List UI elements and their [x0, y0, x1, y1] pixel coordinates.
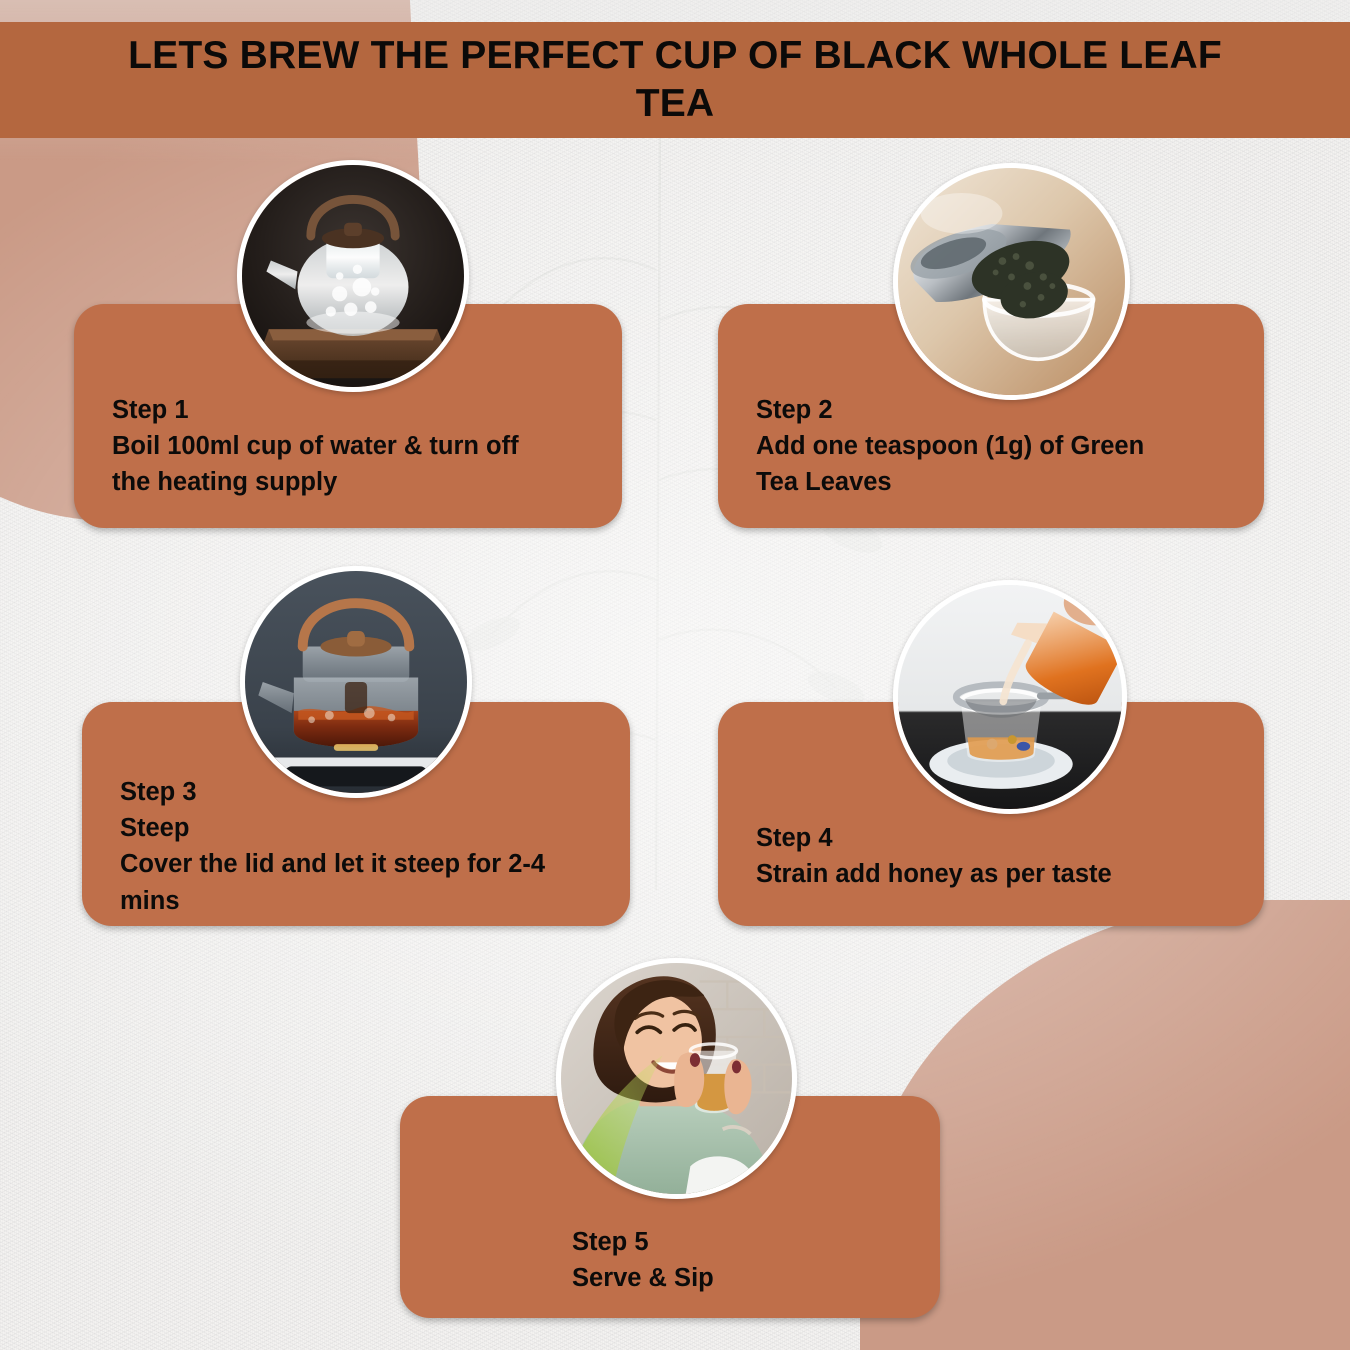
glass-teapot-boiling-water-photo [237, 160, 469, 392]
infographic-page: LETS BREW THE PERFECT CUP OF BLACK WHOLE… [0, 0, 1350, 1350]
tea-leaves-scoop-photo [893, 163, 1130, 400]
header-banner: LETS BREW THE PERFECT CUP OF BLACK WHOLE… [0, 22, 1350, 138]
step-2-text: Step 2 Add one teaspoon (1g) of Green Te… [756, 392, 1236, 501]
woman-sipping-tea-photo [556, 958, 797, 1199]
page-title: LETS BREW THE PERFECT CUP OF BLACK WHOLE… [115, 32, 1235, 127]
step-1-text: Step 1 Boil 100ml cup of water & turn of… [112, 392, 594, 501]
step-5-text: Step 5 Serve & Sip [572, 1224, 912, 1296]
step-4-text: Step 4 Strain add honey as per taste [756, 820, 1236, 892]
steeping-teapot-photo [240, 566, 472, 798]
straining-tea-photo [893, 580, 1127, 814]
decorative-blob-bottom-right-secondary [890, 1090, 1350, 1350]
